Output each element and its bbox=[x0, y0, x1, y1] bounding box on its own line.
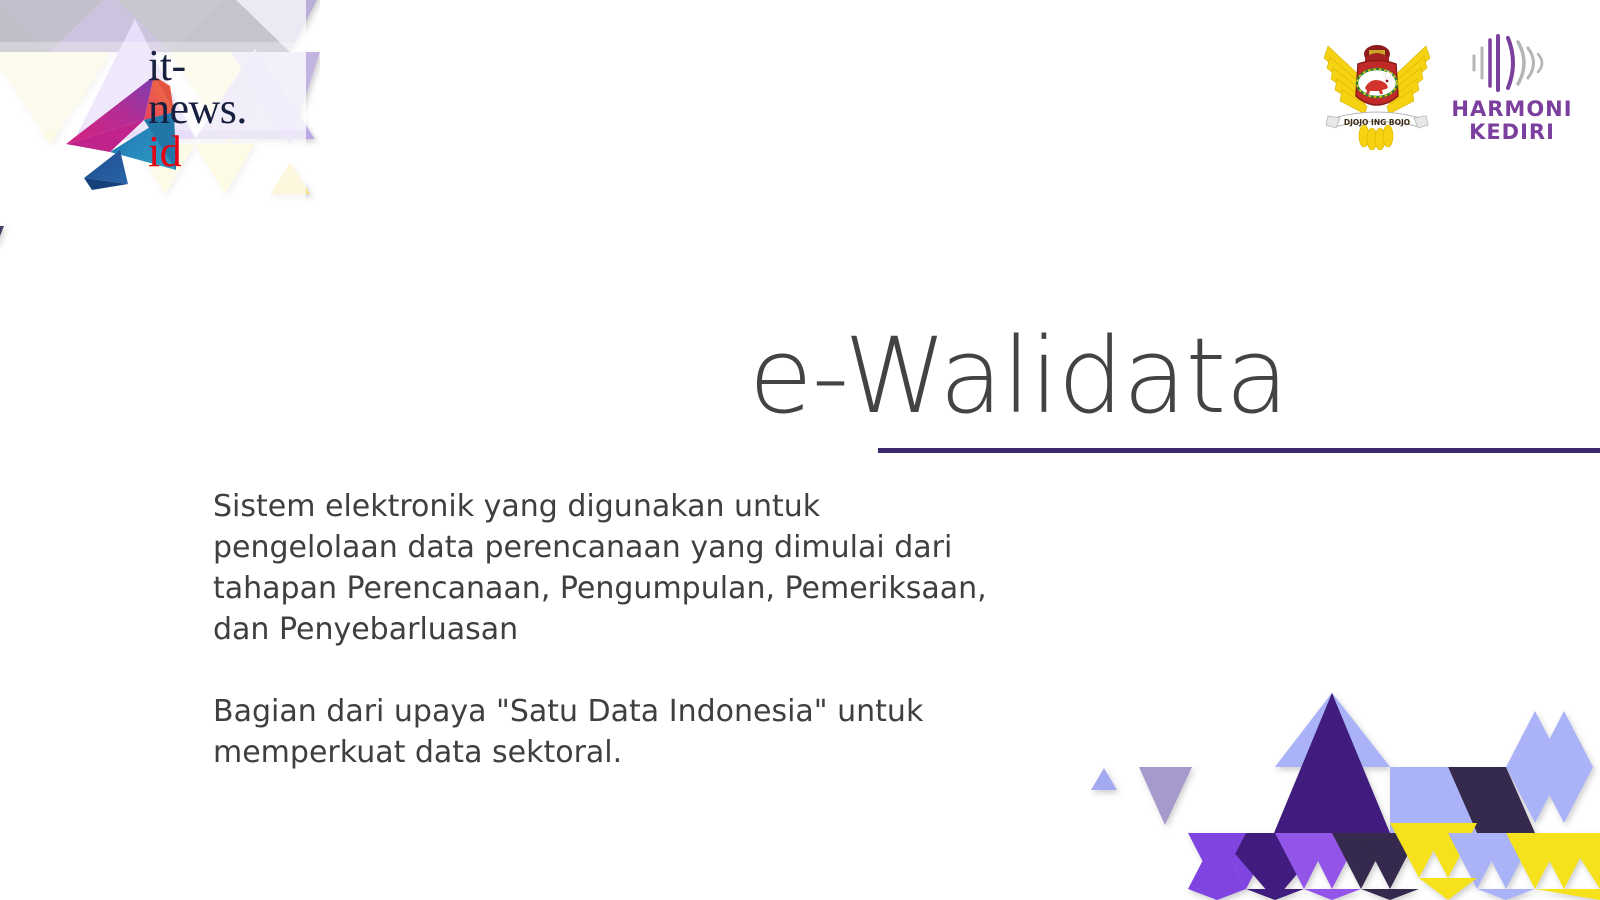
body-paragraph-1: Sistem elektronik yang digunakan untuk p… bbox=[213, 486, 1013, 650]
title-underline-rule bbox=[878, 448, 1600, 453]
header-logo-group: DJOJO ING BOJO bbox=[1318, 24, 1578, 150]
harmoni-kediri-logo: HARMONI KEDIRI bbox=[1446, 24, 1578, 143]
kediri-coat-of-arms-icon: DJOJO ING BOJO bbox=[1318, 24, 1436, 150]
body-copy: Sistem elektronik yang digunakan untuk p… bbox=[213, 486, 1013, 773]
page-title: e-Walidata bbox=[0, 324, 1600, 428]
sound-wave-icon bbox=[1464, 32, 1560, 94]
watermark-line-3: id bbox=[148, 130, 247, 173]
title-block: e-Walidata bbox=[0, 324, 1600, 428]
watermark-line-2: news. bbox=[148, 87, 247, 130]
watermark-line-1: it- bbox=[148, 44, 247, 87]
harmoni-label-line-1: HARMONI bbox=[1446, 98, 1578, 121]
emblem-motto-text: DJOJO ING BOJO bbox=[1344, 118, 1410, 127]
harmoni-label-line-2: KEDIRI bbox=[1446, 121, 1578, 144]
decorative-triangle-mosaic-bottom-right bbox=[1060, 675, 1600, 900]
slide-canvas: it- news. id bbox=[0, 0, 1600, 900]
body-paragraph-2: Bagian dari upaya "Satu Data Indonesia" … bbox=[213, 691, 1013, 773]
it-news-id-wordmark: it- news. id bbox=[148, 44, 247, 173]
